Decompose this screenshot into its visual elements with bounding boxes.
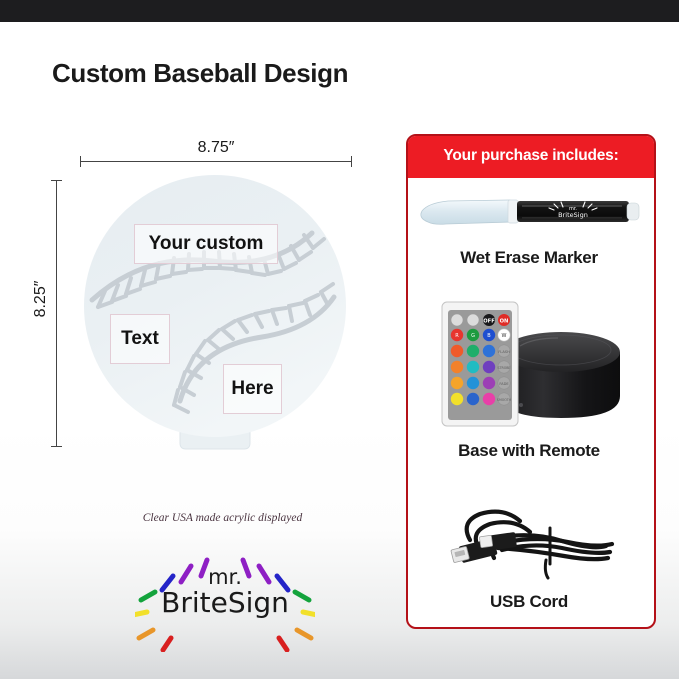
panel-header-text: Your purchase includes: bbox=[443, 147, 618, 165]
height-dimension-line bbox=[56, 180, 57, 447]
width-dimension-line bbox=[80, 161, 352, 162]
marker-icon: mr. BriteSign bbox=[414, 192, 650, 238]
acrylic-caption: Clear USA made acrylic displayed bbox=[60, 512, 385, 524]
svg-text:FADE: FADE bbox=[499, 382, 509, 386]
height-dimension-label: 8.25″ bbox=[32, 254, 50, 344]
brand-logo: mr. BriteSign bbox=[135, 552, 315, 652]
svg-text:SMOOTH: SMOOTH bbox=[497, 398, 512, 402]
acrylic-baseball-panel: Your custom Text Here bbox=[84, 175, 346, 453]
item-label-marker: Wet Erase Marker bbox=[406, 248, 652, 268]
top-black-bar bbox=[0, 0, 679, 22]
custom-text-box-3[interactable]: Here bbox=[223, 364, 282, 414]
svg-text:BriteSign: BriteSign bbox=[558, 211, 588, 219]
svg-text:W: W bbox=[502, 333, 507, 339]
panel-header: Your purchase includes: bbox=[406, 134, 656, 178]
svg-text:B: B bbox=[487, 333, 491, 339]
page-title: Custom Baseball Design bbox=[52, 58, 348, 89]
svg-text:G: G bbox=[471, 333, 475, 339]
usb-cord-icon bbox=[446, 488, 622, 584]
purchase-includes-panel: Your purchase includes: bbox=[406, 134, 656, 629]
custom-text-box-2[interactable]: Text bbox=[110, 314, 170, 364]
logo-text-line2: BriteSign bbox=[135, 586, 315, 619]
item-label-base: Base with Remote bbox=[406, 441, 652, 461]
width-dimension-label: 8.75″ bbox=[80, 139, 352, 157]
svg-text:ON: ON bbox=[500, 319, 509, 325]
svg-text:R: R bbox=[455, 333, 459, 339]
led-base bbox=[502, 332, 620, 418]
product-infographic: Custom Baseball Design 8.75″ 8.25″ bbox=[0, 0, 679, 679]
base-remote-icon: OFF ON R G B W FLAS bbox=[428, 296, 640, 428]
svg-text:FLASH: FLASH bbox=[498, 350, 510, 354]
custom-text-box-1[interactable]: Your custom bbox=[134, 224, 278, 264]
svg-text:STROBE: STROBE bbox=[498, 366, 511, 370]
svg-text:OFF: OFF bbox=[483, 319, 495, 325]
rgb-remote: OFF ON R G B W FLAS bbox=[442, 302, 518, 426]
item-label-usb: USB Cord bbox=[406, 592, 652, 612]
